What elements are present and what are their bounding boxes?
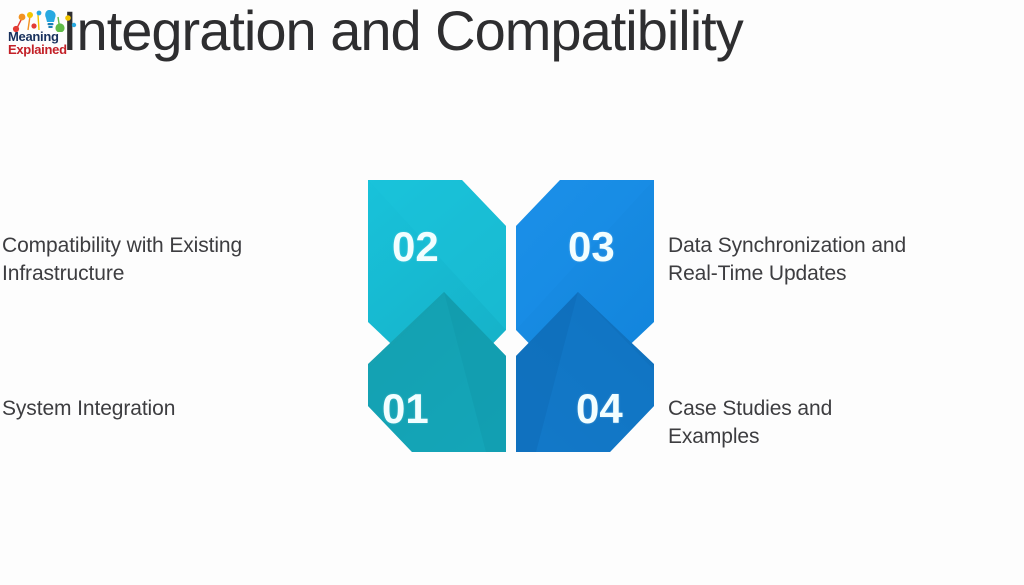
segment-label-03-line-1: Data Synchronization and	[668, 232, 1024, 260]
segment-label-01-line-1: System Integration	[2, 395, 354, 423]
segment-label-04: Case Studies and Examples	[668, 395, 1024, 450]
segment-number-01: 01	[382, 388, 429, 430]
segment-number-02: 02	[392, 226, 439, 268]
segment-label-03: Data Synchronization and Real-Time Updat…	[668, 232, 1024, 287]
segment-number-03: 03	[568, 226, 615, 268]
segment-label-04-line-1: Case Studies and	[668, 395, 1024, 423]
brand-wordmark-line-1: Meaning	[8, 30, 82, 43]
segment-label-03-line-2: Real-Time Updates	[668, 260, 1024, 288]
infographic-diagram: 02 03 01 04 Compatibility with Existing …	[0, 0, 1024, 585]
segment-label-02: Compatibility with Existing Infrastructu…	[2, 232, 354, 287]
brand-wordmark: Meaning Explained	[8, 30, 82, 57]
segment-label-01: System Integration	[2, 395, 354, 423]
brand-wordmark-line-2: Explained	[8, 43, 82, 56]
brand-logo: Meaning Explained	[6, 6, 82, 64]
segment-number-04: 04	[576, 388, 623, 430]
segment-label-02-line-1: Compatibility with Existing	[2, 232, 354, 260]
segment-label-04-line-2: Examples	[668, 423, 1024, 451]
segment-label-02-line-2: Infrastructure	[2, 260, 354, 288]
